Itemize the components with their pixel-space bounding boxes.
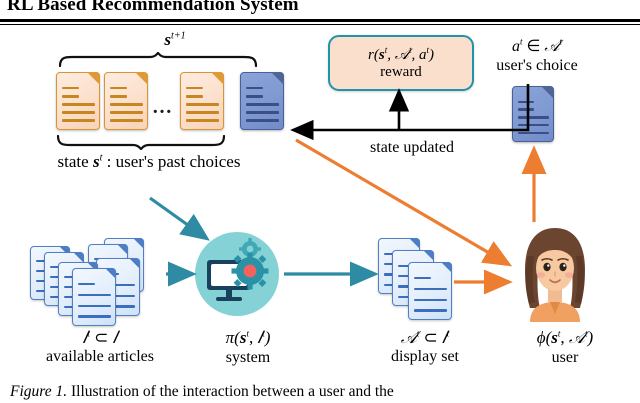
available-articles-stack (26, 238, 171, 324)
reward-label: reward (380, 64, 422, 81)
state-document-n (180, 72, 224, 130)
available-doc-7 (72, 268, 116, 326)
user-formula: ϕ(st, 𝒜t) (500, 328, 630, 348)
figure-number: Figure 1. (10, 383, 67, 400)
figure-caption-text: Illustration of the interaction between … (67, 383, 394, 400)
user-label: user (500, 349, 630, 367)
state-document-1 (56, 72, 100, 130)
figure-caption: Figure 1. Illustration of the interactio… (10, 383, 632, 401)
system-label: system (188, 349, 308, 367)
display-set-label: display set (360, 348, 490, 366)
state-document-latest (240, 72, 284, 130)
available-articles-formula: 𝐼t ⊂ 𝐼 (20, 328, 180, 348)
figure-diagram: st+1 … (0, 26, 640, 371)
header-rule-thick (0, 19, 640, 22)
header-rule-thin (0, 24, 640, 25)
user-choice-label: user's choice (452, 57, 622, 75)
page-title: RL Based Recommendation System (7, 0, 477, 16)
brace-state-next (58, 52, 258, 68)
system-formula: π(st, 𝐼t) (188, 328, 308, 348)
documents-ellipsis: … (152, 96, 173, 119)
state-caption: state st : user's past choices (4, 152, 294, 172)
user-choice-formula: at ∈ 𝒜t (452, 36, 622, 56)
display-doc-3 (408, 262, 452, 320)
chosen-document (512, 86, 554, 142)
reward-formula: r(st, 𝒜t, at) (368, 46, 434, 64)
system-icon (195, 232, 279, 316)
state-next-label: st+1 (130, 30, 220, 50)
figure-page: RL Based Recommendation System st+1 (0, 0, 640, 403)
display-set-formula: 𝒜t ⊂ 𝐼t (360, 328, 490, 348)
display-set-stack (378, 238, 478, 324)
available-articles-label: available articles (12, 348, 188, 366)
brace-state-current (56, 134, 226, 150)
user-avatar (512, 222, 598, 322)
state-updated-label: state updated (322, 139, 502, 157)
state-document-2 (104, 72, 148, 130)
